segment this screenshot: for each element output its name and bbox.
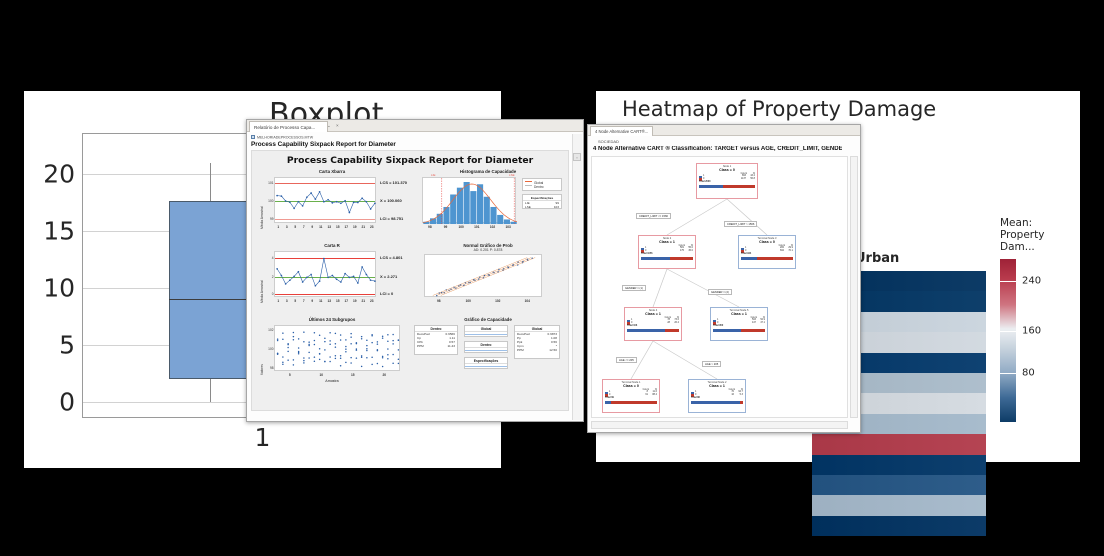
cart-split-label: AGE > 205	[702, 361, 721, 367]
rchart-xtick-6: 13	[327, 299, 331, 303]
cart-node-bar	[699, 185, 755, 188]
xbar-caption: Carta Xbarra	[258, 169, 406, 174]
global-strip-label: Global	[465, 326, 507, 332]
capability-report-window[interactable]: Relatório de Processo Capa... ⌄ × MELHOR…	[246, 119, 584, 422]
lsg-ytick-98: 98	[270, 366, 274, 370]
lsg-xtick-3: 20	[382, 373, 386, 377]
rchart-ucl-label: LCS = 4.801	[380, 255, 403, 260]
cart-node[interactable]: Terminal Node 2Class = 1Count%17094.7016…	[688, 379, 746, 413]
overall-row-ppm: PPM 12.50	[515, 348, 559, 352]
histogram-xticks: 9899100101102103	[422, 225, 516, 231]
overall-value-ppm: 12.50	[549, 348, 557, 352]
probplot-points	[425, 255, 543, 298]
xbar-plot: 101 100 99	[274, 177, 376, 223]
legend-swatch-global	[525, 181, 532, 182]
rchart-ytick-2: 2	[272, 275, 274, 279]
prob-xtick-1: 100	[466, 299, 471, 303]
cart-node-total: Total 1056	[641, 253, 693, 256]
xbar-ytick-100: 100	[268, 199, 273, 203]
rchart-xtick-9: 19	[353, 299, 357, 303]
prob-xtick-2: 102	[495, 299, 500, 303]
lsg-xtick-1: 10	[319, 373, 323, 377]
rchart-series	[275, 252, 377, 298]
rchart-xtick-8: 17	[344, 299, 348, 303]
capability-spec-strip: Especificações	[464, 357, 508, 369]
xbar-xtick-6: 13	[327, 225, 331, 229]
xbar-lcl-label: LCI = 98.751	[380, 216, 403, 221]
legend-swatch-dentro	[525, 185, 532, 186]
lsg-ytick-102: 102	[268, 328, 273, 332]
cart-horizontal-scrollbar[interactable]	[591, 421, 848, 429]
spec-strip-label: Especificações	[465, 358, 507, 364]
project-path: MELHORIADEPROCESSOS.MTW	[251, 135, 313, 140]
lastsubgroups-xlabel: Amostra	[258, 379, 406, 383]
cart-node-bar	[627, 329, 679, 332]
prob-xtick-3: 104	[525, 299, 530, 303]
cart-node[interactable]: Terminal Node 5Class = 1Count%150352.904…	[710, 307, 768, 341]
capability-scroll-thumb-icon[interactable]: ▫	[573, 153, 581, 161]
xbar-xtick-9: 19	[353, 225, 357, 229]
hist-xtick-4: 102	[490, 225, 495, 229]
cart-node-total: Total 950	[713, 325, 765, 328]
xbar-center-label: X = 100.060	[380, 198, 402, 203]
within-value-ppm: 11.43	[447, 344, 455, 348]
worksheet-icon	[251, 135, 255, 139]
probplot-plot	[424, 254, 542, 297]
y-tick-20: 20	[43, 160, 75, 189]
cart-node-table: Count%128229.9066270.1Total 944	[739, 244, 795, 256]
legend-notch-160	[1000, 331, 1016, 332]
xbar-xtick-7: 15	[336, 225, 340, 229]
capability-within-strip: Dentro	[464, 341, 508, 353]
spec-strip-line	[465, 366, 507, 367]
cart-node-total: Total 106	[627, 325, 679, 328]
box-1[interactable]	[169, 201, 252, 379]
y-tick-10: 10	[43, 274, 75, 303]
overall-name-ppm: PPM	[517, 348, 524, 352]
project-path-label: MELHORIADEPROCESSOS.MTW	[257, 136, 313, 140]
cart-split-label: AGE <= 205	[616, 357, 637, 363]
heatmap-cell[interactable]	[812, 455, 986, 475]
rchart-xtick-3: 7	[303, 299, 305, 303]
xbar-series	[275, 178, 377, 224]
cart-node[interactable]: Node 4Class = 1Count%17873.602826.4Total…	[624, 307, 682, 341]
heatmap-legend: Mean: Property Dam... 240 160 80	[1000, 217, 1076, 422]
cart-node-bar	[605, 401, 657, 404]
within-strip-line	[465, 350, 507, 351]
global-strip-line	[465, 334, 507, 335]
probplot-xticks: 98100102104	[424, 299, 542, 305]
rchart-ytick-0: 0	[272, 292, 274, 296]
capability-report-title: Process Capability Sixpack Report for Di…	[252, 155, 568, 166]
legend-title-line2: Property Dam...	[1000, 229, 1076, 253]
cart-canvas: Node 1Class = 0Count%186343.20113756.8To…	[591, 156, 848, 418]
cart-node-total: Total 86	[691, 397, 743, 400]
cart-node-table: Count%150352.9044747.1Total 950	[711, 316, 767, 328]
capability-canvas: Process Capability Sixpack Report for Di…	[251, 150, 569, 411]
median-line-1	[169, 299, 252, 300]
cart-node-total: Total 2000	[699, 181, 755, 184]
cart-node-table: Count%186343.20113756.8Total 2000	[697, 172, 757, 184]
cart-tabbar: 4 Node Alternative CART®...	[588, 125, 860, 136]
rchart-xtick-10: 21	[361, 299, 365, 303]
legend-title: Mean: Property Dam...	[1000, 217, 1076, 253]
rchart-xtick-5: 11	[319, 299, 322, 303]
histogram-plot	[422, 177, 516, 223]
lsg-xtick-0: 5	[289, 373, 291, 377]
capability-tab[interactable]: Relatório de Processo Capa...	[249, 121, 328, 132]
xbar-xtick-8: 17	[344, 225, 348, 229]
capability-plot-caption: Gráfico de Capacidade	[412, 317, 564, 322]
lastsubgroups-plot: 102 100 98	[274, 325, 400, 371]
y-tick-5: 5	[59, 331, 75, 360]
xbar-xtick-3: 7	[303, 225, 305, 229]
probplot-subtitle: AD: 0.201 P: 0.878	[412, 248, 564, 252]
within-strip-label: Dentro	[465, 342, 507, 348]
cart-node[interactable]: Node 1Class = 0Count%186343.20113756.8To…	[696, 163, 758, 199]
rchart-center-label: X = 2.271	[380, 274, 397, 279]
heatmap-title: Heatmap of Property Damage	[622, 97, 936, 121]
capability-global-strip: Global	[464, 325, 508, 337]
heatmap-column-header: Urban	[855, 251, 899, 266]
legend-colorbar-wrap: 240 160 80	[1000, 259, 1076, 422]
whisker-upper	[210, 163, 211, 201]
cart-split-label: CREDIT_LIMIT <= 1566	[636, 213, 671, 219]
close-icon[interactable]: ×	[336, 120, 339, 131]
cart-node-bar	[713, 329, 765, 332]
lsg-ytick-100: 100	[268, 347, 273, 351]
rchart-lcl-label: LCI = 0	[380, 291, 393, 296]
prob-xtick-0: 98	[437, 299, 441, 303]
spec-name-lse: LSE	[525, 205, 531, 209]
rchart: Carta R Média Amostral 4 2 0 LCS = 4.801…	[258, 243, 406, 311]
capability-tab-label: Relatório de Processo Capa...	[254, 125, 315, 130]
cart-split-label: GENDER = (2)	[708, 289, 732, 295]
y-tick-0: 0	[59, 388, 75, 417]
heatmap-cell[interactable]	[812, 434, 986, 454]
within-table: Dentro DesvPad 0.9566 Cp 1.11 CPk 0.57	[414, 325, 458, 355]
hist-xtick-3: 101	[474, 225, 479, 229]
cart-node[interactable]: Terminal Node 1Class = 0Count%1811.60618…	[602, 379, 660, 413]
rchart-ylabel: Média Amostral	[260, 280, 264, 303]
rchart-xtick-2: 5	[294, 299, 296, 303]
xbar-xtick-2: 5	[294, 225, 296, 229]
legend-label-dentro: Dentro	[534, 185, 544, 189]
rchart-caption: Carta R	[258, 243, 406, 248]
cart-subtitle: SOCIEDAD	[598, 139, 619, 144]
heatmap-cell[interactable]	[812, 495, 986, 515]
xbar-ytick-99: 99	[270, 217, 274, 221]
hist-xtick-5: 103	[505, 225, 510, 229]
capability-plot: Gráfico de Capacidade Dentro DesvPad 0.9…	[412, 317, 564, 389]
xbar-xticks: 1357911131517192123	[274, 225, 376, 231]
heatmap-cell[interactable]	[812, 516, 986, 536]
chevron-down-icon[interactable]: ⌄	[327, 120, 331, 131]
hist-xtick-2: 100	[458, 225, 463, 229]
xbar-xtick-4: 9	[311, 225, 313, 229]
xbar-xtick-11: 23	[370, 225, 374, 229]
legend-tick-80: 80	[1022, 368, 1035, 379]
histogram-chart: Histograma de Capacidade LIE LSE 9899100…	[412, 169, 564, 237]
legend-tick-160: 160	[1022, 326, 1041, 337]
xbar-xtick-10: 21	[361, 225, 365, 229]
rchart-xtick-11: 23	[370, 299, 374, 303]
cart-node-table: Count%17873.602826.4Total 106	[625, 316, 681, 328]
xbar-xtick-1: 3	[286, 225, 288, 229]
xbar-ylabel: Média Amostral	[260, 206, 264, 229]
xbar-xtick-5: 11	[319, 225, 322, 229]
hist-xtick-0: 98	[428, 225, 432, 229]
screen-root: Boxplot 20 15 10 5 0 1 Heatmap of Proper…	[0, 0, 1104, 556]
histogram-lsl-label: LIE	[431, 173, 436, 177]
cart-tab-label: 4 Node Alternative CART®...	[595, 129, 648, 134]
cart-node[interactable]: Node 2Class = 1Count%158155.0047545.0Tot…	[638, 235, 696, 269]
y-tick-15: 15	[43, 217, 75, 246]
legend-notch-80	[1000, 373, 1016, 374]
heatmap-cell[interactable]	[812, 475, 986, 495]
spec-row-lse: LSE 103	[523, 205, 561, 209]
cart-tab[interactable]: 4 Node Alternative CART®...	[590, 126, 653, 136]
legend-row-dentro: Dentro	[523, 185, 561, 189]
cart-vertical-scrollbar[interactable]	[850, 156, 858, 418]
cart-node-bar	[641, 257, 693, 260]
boxplot-x-tick-1: 1	[24, 423, 501, 452]
legend-colorbar	[1000, 259, 1016, 422]
cart-split-label: GENDER = (1)	[622, 285, 646, 291]
overall-table: Global DesvPad 0.9873 Pp 1.08 Ppk 0.56	[514, 325, 560, 359]
within-row-ppm: PPM 11.43	[415, 344, 457, 348]
hist-xtick-1: 99	[444, 225, 448, 229]
whisker-lower	[210, 379, 211, 402]
xbar-chart: Carta Xbarra Média Amostral 101 100 99 L…	[258, 169, 406, 237]
histogram-legend: Global Dentro	[522, 178, 562, 191]
cart-node-total: Total 944	[741, 253, 793, 256]
xbar-ucl-label: LCS = 101.370	[380, 180, 407, 185]
lastsubgroups-caption: Últimos 24 Subgrupos	[258, 317, 406, 322]
rchart-xtick-4: 9	[311, 299, 313, 303]
cart-node-table: Count%17094.70165.3Total 86	[689, 388, 745, 400]
cart-window[interactable]: 4 Node Alternative CART®... SOCIEDAD 4 N…	[587, 124, 861, 433]
rchart-plot: 4 2 0	[274, 251, 376, 297]
rchart-xtick-7: 15	[336, 299, 340, 303]
capability-scrollbar[interactable]	[572, 134, 582, 420]
lastsubgroups-ylabel: Valores	[260, 364, 264, 375]
cart-node-total: Total 69	[605, 397, 657, 400]
rchart-xticks: 1357911131517192123	[274, 299, 376, 305]
legend-tick-240: 240	[1022, 276, 1041, 287]
lastsubgroups-points	[275, 326, 401, 372]
cart-node-bar	[741, 257, 793, 260]
spec-box: Especificações LIE 99 LSE 103	[522, 194, 562, 209]
cart-node-bar	[691, 401, 743, 404]
probplot-chart: Normal Gráfico de Prob AD: 0.201 P: 0.87…	[412, 243, 564, 311]
capability-tabbar: Relatório de Processo Capa... ⌄ ×	[247, 120, 583, 132]
cart-node-table: Count%1811.606188.4Total 69	[603, 388, 659, 400]
within-name-ppm: PPM	[417, 344, 424, 348]
cart-split-label: CREDIT_LIMIT > 1566	[724, 221, 757, 227]
cart-heading: 4 Node Alternative CART ® Classification…	[593, 146, 842, 152]
rchart-xtick-0: 1	[277, 299, 279, 303]
spec-value-lse: 103	[554, 205, 559, 209]
histogram-usl-label: LSE	[509, 173, 515, 177]
histogram-bars	[423, 178, 517, 224]
xbar-xtick-0: 1	[277, 225, 279, 229]
cart-node[interactable]: Terminal Node 3Class = 0Count%128229.906…	[738, 235, 796, 269]
lastsubgroups-chart: Últimos 24 Subgrupos Valores 102 100 98 …	[258, 317, 406, 389]
lsg-xtick-2: 15	[351, 373, 355, 377]
rchart-ytick-4: 4	[272, 256, 274, 260]
cart-node-table: Count%158155.0047545.0Total 1056	[639, 244, 695, 256]
xbar-ytick-101: 101	[268, 181, 273, 185]
legend-title-line1: Mean:	[1000, 217, 1076, 229]
legend-notch-240	[1000, 281, 1016, 282]
rchart-xtick-1: 3	[286, 299, 288, 303]
capability-heading: Process Capability Sixpack Report for Di…	[251, 141, 396, 148]
